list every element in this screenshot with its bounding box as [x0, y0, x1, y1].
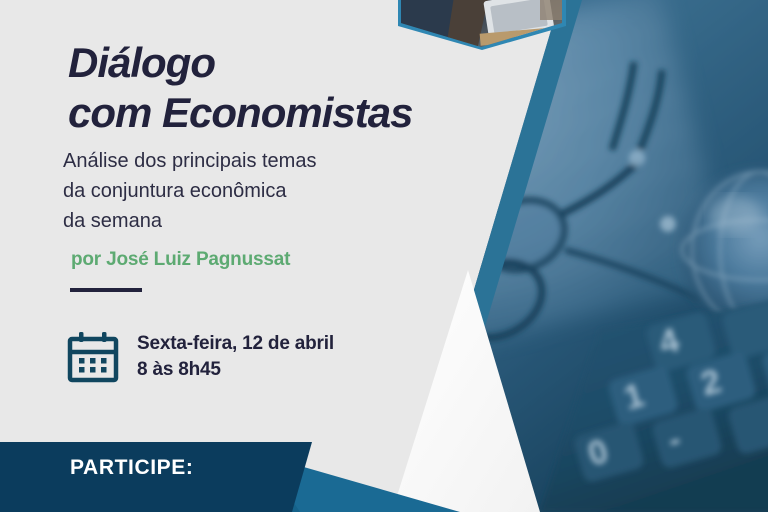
divider-rule — [70, 288, 142, 292]
page-subtitle: Análise dos principais temas da conjuntu… — [63, 146, 403, 236]
text-column: Diálogo com Economistas Análise dos prin… — [0, 0, 470, 512]
calendar-icon — [66, 330, 120, 384]
page-title: Diálogo com Economistas — [68, 38, 468, 138]
date-time-block: Sexta-feira, 12 de abril 8 às 8h45 — [66, 330, 334, 384]
participe-label: PARTICIPE: — [70, 456, 193, 480]
author-name: por José Luiz Pagnussat — [71, 249, 290, 271]
poster-canvas: 4 1 2 0 - — [0, 0, 768, 512]
date-time-text: Sexta-feira, 12 de abril 8 às 8h45 — [137, 331, 334, 383]
